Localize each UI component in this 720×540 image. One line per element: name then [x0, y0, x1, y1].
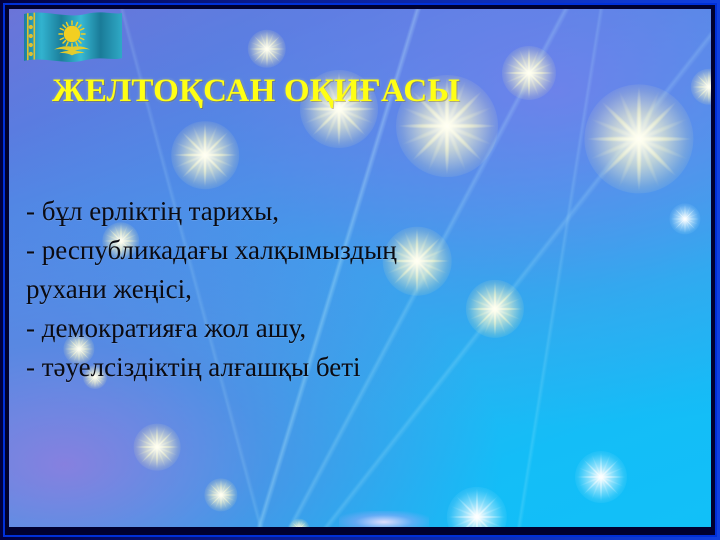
slide-body-line: - бұл ерліктің тарихы, [26, 192, 666, 231]
kazakhstan-flag-icon [20, 8, 126, 74]
star-core-glow [575, 451, 627, 503]
star-ray-cross [674, 52, 711, 122]
star-ray-minor-b [401, 441, 553, 527]
star-ray-minor-b [98, 388, 216, 506]
star-ray-cross [279, 509, 319, 527]
starburst-top-right-edge [674, 52, 711, 122]
slide-title: ЖЕЛТОҚСАН ОҚИҒАСЫ [52, 73, 460, 110]
star-core-glow [447, 487, 507, 527]
star-core-glow [584, 84, 693, 193]
star-core-glow [134, 424, 181, 471]
slide-body-list: - бұл ерліктің тарихы,- республикадағы х… [26, 192, 666, 387]
starburst-bottom-left [112, 402, 202, 492]
star-core-glow [289, 519, 310, 527]
slide-body-line: - демократияға жол ашу, [26, 309, 666, 348]
star-core-glow [691, 69, 711, 105]
star-ray-minor-b [536, 412, 667, 527]
star-ray-minor-b [179, 453, 263, 527]
starburst-bottom-right [551, 427, 651, 527]
starburst-bottom-small [279, 509, 319, 527]
star-ray-diagonal [93, 383, 220, 510]
star-ray-minor-a [401, 441, 553, 527]
star-core-glow [669, 203, 700, 234]
star-ray-minor-b [273, 503, 325, 527]
presentation-slide: ЖЕЛТОҚСАН ОҚИҒАСЫ - бұл ерліктің тарихы,… [0, 0, 720, 540]
star-ray-minor-b [461, 9, 597, 141]
slide-body-line: рухани жеңісі, [26, 270, 666, 309]
star-ray-diagonal [271, 501, 328, 527]
star-core-glow [204, 478, 237, 511]
star-ray-diagonal [660, 38, 711, 137]
star-ray-cross [189, 463, 253, 527]
star-ray-minor-a [461, 9, 597, 141]
slide-body-line: - республикадағы халқымыздың [26, 231, 666, 270]
star-core-glow [502, 46, 556, 100]
slide-body-line: - тәуелсіздіктің алғашқы беті [26, 348, 666, 387]
star-ray-diagonal [176, 450, 267, 527]
star-ray-cross [112, 402, 202, 492]
starburst-bottom-center [419, 459, 535, 527]
star-ray-minor-a [536, 412, 667, 527]
star-ray-cross [477, 21, 581, 125]
starburst-mid-upper-right [477, 21, 581, 125]
star-ray-minor-a [273, 503, 325, 527]
bottom-center-glow [339, 511, 429, 527]
star-core-glow [171, 121, 239, 189]
star-ray-cross [551, 427, 651, 527]
star-ray-minor-a [98, 388, 216, 506]
star-ray-diagonal [530, 406, 671, 527]
starburst-bottom-left2 [189, 463, 253, 527]
star-ray-diagonal [395, 435, 559, 527]
star-core-glow [248, 30, 286, 68]
star-ray-minor-b [663, 41, 711, 132]
star-ray-cross [419, 459, 535, 527]
flag-sun [64, 26, 80, 42]
star-ray-minor-a [663, 41, 711, 132]
star-ray-diagonal [455, 9, 602, 147]
star-ray-diagonal [233, 9, 445, 215]
star-ray-minor-a [179, 453, 263, 527]
